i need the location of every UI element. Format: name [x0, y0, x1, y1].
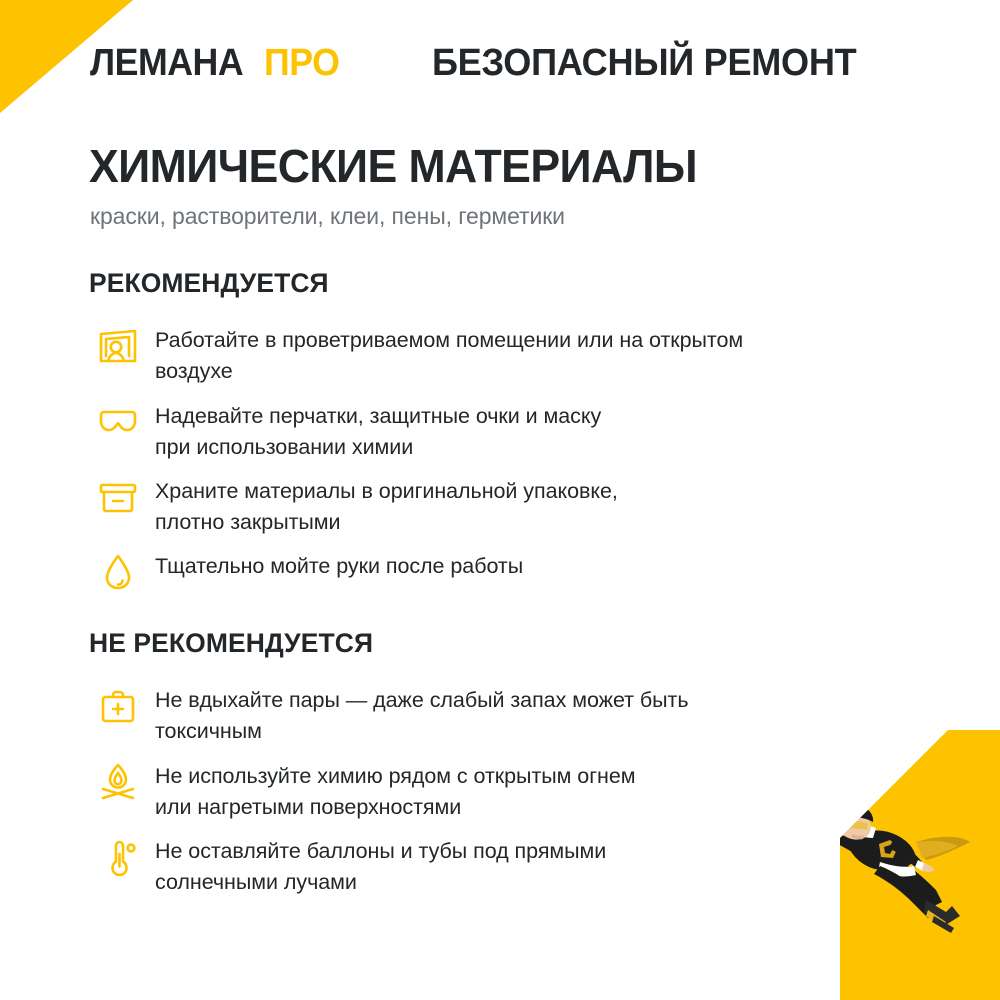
- list-item: Надевайте перчатки, защитные очки и маск…: [89, 393, 919, 462]
- list-item-text: Не оставляйте баллоны и тубы под прямыми…: [155, 828, 919, 897]
- open-window-ventilation-icon: [89, 317, 155, 375]
- first-aid-kit-icon: [89, 677, 155, 735]
- list-item-line1: Надевайте перчатки, защитные очки и маск…: [155, 404, 601, 428]
- water-drop-icon: [89, 543, 155, 601]
- list-item: Не используйте химию рядом с открытым ог…: [89, 753, 919, 822]
- list-item-line1: Работайте в проветриваемом помещении или…: [155, 328, 743, 352]
- storage-box-icon: [89, 468, 155, 526]
- list-item: Не вдыхайте пары — даже слабый запах мож…: [89, 677, 919, 747]
- list-item-text: Тщательно мойте руки после работы: [155, 543, 919, 582]
- list-item-text: Работайте в проветриваемом помещении или…: [155, 317, 919, 386]
- list-item-line2: токсичным: [155, 716, 919, 747]
- list-item-line1: Не используйте химию рядом с открытым ог…: [155, 764, 635, 788]
- page-title: ХИМИЧЕСКИЕ МАТЕРИАЛЫ: [89, 142, 697, 192]
- section-heading-not-recommended: НЕ РЕКОМЕНДУЕТСЯ: [89, 628, 902, 659]
- safety-goggles-icon: [89, 393, 155, 451]
- list-item-text: Надевайте перчатки, защитные очки и маск…: [155, 393, 919, 462]
- list-item-line2: при использовании химии: [155, 432, 919, 463]
- logo-secondary-text: ПРО: [264, 44, 339, 82]
- header-campaign-title: БЕЗОПАСНЫЙ РЕМОНТ: [432, 44, 856, 82]
- list-item-line1: Храните материалы в оригинальной упаковк…: [155, 479, 618, 503]
- list-item-line2: солнечными лучами: [155, 867, 919, 898]
- infographic-poster: ЛЕМАНА ПРО БЕЗОПАСНЫЙ РЕМОНТ ХИМИЧЕСКИЕ …: [0, 0, 1000, 1000]
- section-recommended: РЕКОМЕНДУЕТСЯ Работайте в проветриваемом…: [89, 268, 919, 607]
- page-subtitle: краски, растворители, клеи, пены, гермет…: [90, 203, 565, 230]
- section-not-recommended: НЕ РЕКОМЕНДУЕТСЯ Не вдыхайте пары — даже…: [89, 628, 919, 903]
- brand-logo: ЛЕМАНА ПРО: [90, 44, 344, 82]
- campfire-open-flame-icon: [89, 753, 155, 811]
- logo-primary-text: ЛЕМАНА: [90, 44, 243, 82]
- list-item-line2: или нагретыми поверхностями: [155, 792, 919, 823]
- list-item: Работайте в проветриваемом помещении или…: [89, 317, 919, 387]
- list-item-line1: Не вдыхайте пары — даже слабый запах мож…: [155, 688, 688, 712]
- list-item-line1: Не оставляйте баллоны и тубы под прямыми: [155, 839, 606, 863]
- list-item-line2: воздухе: [155, 356, 919, 387]
- list-item: Храните материалы в оригинальной упаковк…: [89, 468, 919, 537]
- section-heading-recommended: РЕКОМЕНДУЕТСЯ: [89, 268, 902, 299]
- thermometer-sun-icon: [89, 828, 155, 886]
- list-item: Не оставляйте баллоны и тубы под прямыми…: [89, 828, 919, 897]
- list-item-text: Не вдыхайте пары — даже слабый запах мож…: [155, 677, 919, 746]
- list-item-line2: плотно закрытыми: [155, 507, 919, 538]
- list-item-line1: Тщательно мойте руки после работы: [155, 554, 523, 578]
- list-item: Тщательно мойте руки после работы: [89, 543, 919, 601]
- list-item-text: Не используйте химию рядом с открытым ог…: [155, 753, 919, 822]
- not-recommended-item-list: Не вдыхайте пары — даже слабый запах мож…: [89, 677, 919, 897]
- poster-header: ЛЕМАНА ПРО БЕЗОПАСНЫЙ РЕМОНТ: [0, 0, 1000, 120]
- recommended-item-list: Работайте в проветриваемом помещении или…: [89, 317, 919, 601]
- list-item-text: Храните материалы в оригинальной упаковк…: [155, 468, 919, 537]
